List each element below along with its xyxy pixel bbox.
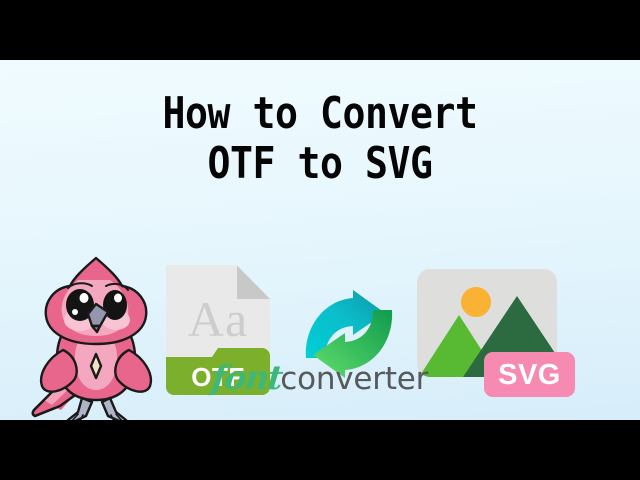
logo-word-converter: converter xyxy=(280,361,428,397)
logo-word-font: font xyxy=(210,358,284,397)
page-title: How to Convert OTF to SVG xyxy=(0,88,640,188)
slide-canvas: How to Convert OTF to SVG xyxy=(0,60,640,420)
sun-icon xyxy=(461,287,491,317)
letterbox-bottom xyxy=(0,420,640,480)
title-line-1: How to Convert xyxy=(22,87,617,140)
video-frame: How to Convert OTF to SVG xyxy=(0,0,640,480)
title-line-2: OTF to SVG xyxy=(22,137,617,190)
brand-logo: fontconverter xyxy=(0,358,640,397)
font-glyph-sample: Aa xyxy=(166,291,270,347)
letterbox-top xyxy=(0,0,640,60)
